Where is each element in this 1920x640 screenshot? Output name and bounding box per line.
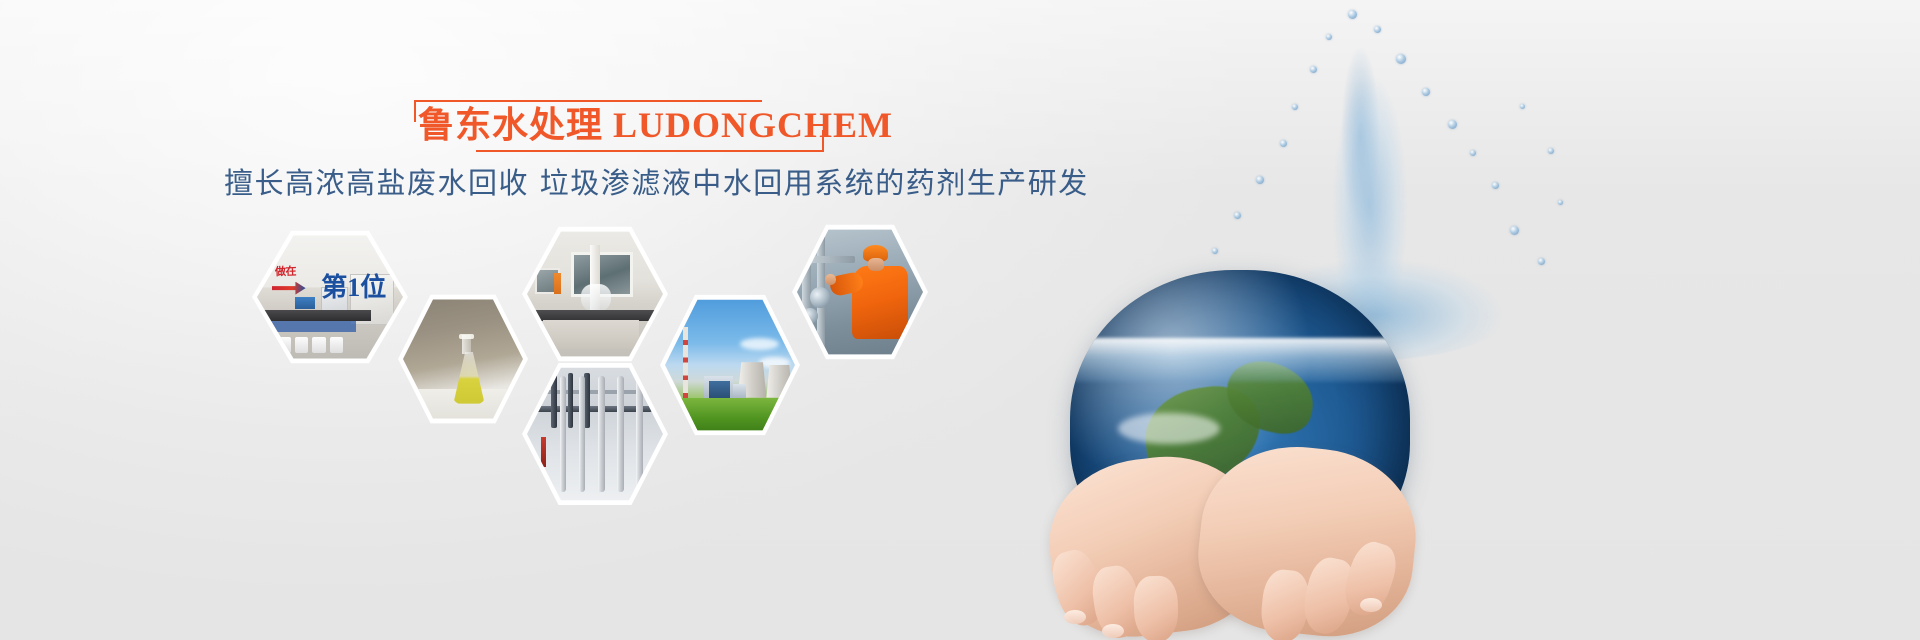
hex-photo-lab-glassware[interactable] <box>522 224 668 364</box>
hex-photo-lab-room[interactable]: 做在 第1位 <box>252 228 408 366</box>
hex-photo-worker-image <box>797 227 923 357</box>
hex-photo-lab-room-image: 做在 第1位 <box>257 233 403 361</box>
wall-slogan-bottom: 第1位 <box>321 275 386 301</box>
hex-photo-yellow-flask[interactable] <box>398 292 528 426</box>
hex-photo-yellow-flask-image <box>403 297 523 421</box>
hex-photo-membrane-skid-image <box>527 365 663 503</box>
hands-holding-globe <box>1030 430 1430 640</box>
hex-photo-lab-glassware-image <box>527 229 663 359</box>
wall-slogan-top: 做在 <box>274 266 295 278</box>
hex-photo-membrane-skid[interactable] <box>522 360 668 508</box>
hex-photo-worker[interactable] <box>792 222 928 362</box>
hex-photo-power-plant-image <box>665 297 795 433</box>
banner-stage: 鲁东水处理 LUDONGCHEM 擅长高浓高盐废水回收 垃圾渗滤液中水回用系统的… <box>0 0 1920 640</box>
hex-photo-power-plant[interactable] <box>660 292 800 438</box>
hexagon-photo-cluster: 做在 第1位 <box>0 0 1000 640</box>
water-globe-artwork <box>1040 0 1920 640</box>
